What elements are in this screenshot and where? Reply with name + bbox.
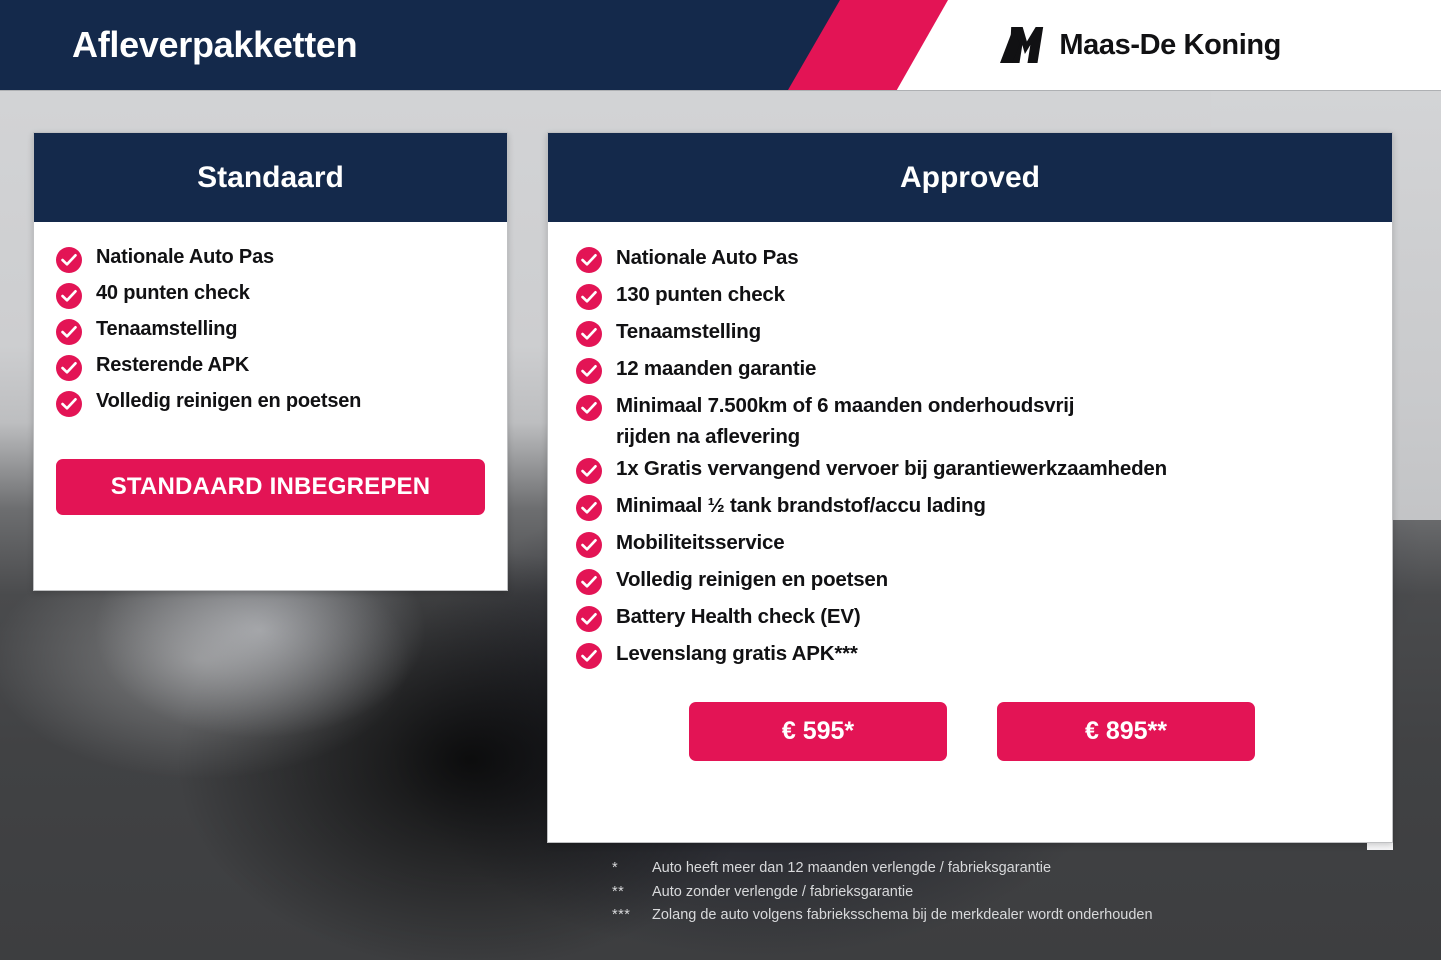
feature-label: 40 punten check (96, 282, 250, 305)
footnote-text: Auto heeft meer dan 12 maanden verlengde… (652, 861, 1051, 876)
list-item: Nationale Auto Pas (576, 246, 1368, 273)
brand-logo: Maas-De Koning (999, 0, 1281, 90)
list-item: Minimaal 7.500km of 6 maanden onderhouds… (576, 394, 1368, 447)
footnotes: * Auto heeft meer dan 12 maanden verleng… (612, 861, 1153, 932)
check-circle-icon (576, 606, 602, 632)
feature-label: Battery Health check (EV) (616, 605, 861, 628)
feature-label: Volledig reinigen en poetsen (96, 390, 361, 413)
list-item: 40 punten check (56, 282, 485, 309)
m-monogram-icon (999, 25, 1045, 65)
feature-label: 130 punten check (616, 283, 785, 306)
footnote-3: *** Zolang de auto volgens fabrieksschem… (612, 908, 1153, 923)
price-button-row: € 595* € 895** (576, 679, 1368, 761)
check-circle-icon (576, 458, 602, 484)
list-item: Resterende APK (56, 354, 485, 381)
check-circle-icon (576, 284, 602, 310)
footnote-2: ** Auto zonder verlengde / fabrieksgaran… (612, 885, 1153, 900)
feature-label: Minimaal ½ tank brandstof/accu lading (616, 494, 986, 517)
feature-label: Tenaamstelling (616, 320, 761, 343)
feature-label-line2: rijden na aflevering (616, 426, 1074, 448)
feature-label: Nationale Auto Pas (616, 246, 798, 269)
feature-label: 1x Gratis vervangend vervoer bij garanti… (616, 457, 1167, 480)
list-item: Mobiliteitsservice (576, 531, 1368, 558)
list-item: Volledig reinigen en poetsen (56, 390, 485, 417)
check-circle-icon (576, 321, 602, 347)
feature-label: Mobiliteitsservice (616, 531, 784, 554)
footnote-text: Auto zonder verlengde / fabrieksgarantie (652, 885, 913, 900)
feature-label-multiline: Minimaal 7.500km of 6 maanden onderhouds… (616, 394, 1074, 447)
footnote-marker: *** (612, 908, 652, 923)
check-circle-icon (56, 247, 82, 273)
feature-label: Resterende APK (96, 354, 249, 377)
list-item: Battery Health check (EV) (576, 605, 1368, 632)
check-circle-icon (576, 395, 602, 421)
footnote-1: * Auto heeft meer dan 12 maanden verleng… (612, 861, 1153, 876)
feature-label-line1: Minimaal 7.500km of 6 maanden onderhouds… (616, 394, 1074, 417)
footnote-marker: * (612, 861, 652, 876)
page-header: Afleverpakketten Maas-De Koning (0, 0, 1441, 90)
check-circle-icon (576, 643, 602, 669)
feature-label: Volledig reinigen en poetsen (616, 568, 888, 591)
feature-label: Levenslang gratis APK*** (616, 642, 858, 665)
check-circle-icon (56, 319, 82, 345)
check-circle-icon (576, 358, 602, 384)
feature-list-approved: Nationale Auto Pas 130 punten check Tena… (576, 246, 1368, 669)
price-button-595[interactable]: € 595* (689, 702, 947, 761)
price-button-895[interactable]: € 895** (997, 702, 1255, 761)
package-card-approved: Approved Nationale Auto Pas 130 punten c… (547, 132, 1393, 843)
feature-list-standaard: Nationale Auto Pas 40 punten check Tenaa… (56, 246, 485, 417)
list-item: 130 punten check (576, 283, 1368, 310)
list-item: Minimaal ½ tank brandstof/accu lading (576, 494, 1368, 521)
standaard-inbegrepen-button[interactable]: STANDAARD INBEGREPEN (56, 459, 485, 515)
list-item: Levenslang gratis APK*** (576, 642, 1368, 669)
check-circle-icon (56, 283, 82, 309)
list-item: Volledig reinigen en poetsen (576, 568, 1368, 595)
feature-label: 12 maanden garantie (616, 357, 816, 380)
check-circle-icon (576, 495, 602, 521)
list-item: 12 maanden garantie (576, 357, 1368, 384)
package-title-approved: Approved (548, 133, 1392, 222)
check-circle-icon (56, 355, 82, 381)
check-circle-icon (56, 391, 82, 417)
footnote-marker: ** (612, 885, 652, 900)
page-title: Afleverpakketten (72, 0, 357, 90)
brand-logo-text: Maas-De Koning (1059, 29, 1281, 62)
list-item: Nationale Auto Pas (56, 246, 485, 273)
check-circle-icon (576, 247, 602, 273)
package-card-standaard: Standaard Nationale Auto Pas 40 punten c… (33, 132, 508, 591)
list-item: Tenaamstelling (576, 320, 1368, 347)
check-circle-icon (576, 569, 602, 595)
footnote-text: Zolang de auto volgens fabrieksschema bi… (652, 908, 1153, 923)
feature-label: Nationale Auto Pas (96, 246, 274, 269)
list-item: 1x Gratis vervangend vervoer bij garanti… (576, 457, 1368, 484)
list-item: Tenaamstelling (56, 318, 485, 345)
check-circle-icon (576, 532, 602, 558)
feature-label: Tenaamstelling (96, 318, 237, 341)
package-title-standaard: Standaard (34, 133, 507, 222)
